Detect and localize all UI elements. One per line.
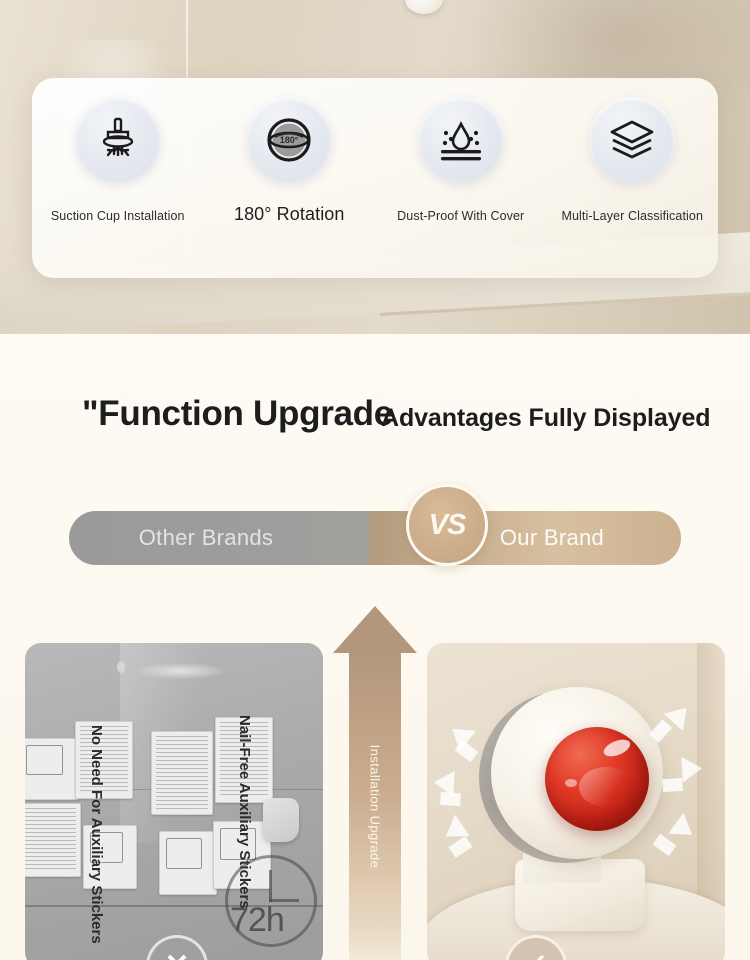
- versus-bar: Other Brands Our Brand VS: [69, 511, 681, 565]
- arrow-head: [333, 606, 417, 653]
- arrow-label-wrap: Installation Upgrade: [349, 652, 401, 960]
- headline-primary: "Function Upgrade: [82, 394, 393, 434]
- section-headline: "Function Upgrade Advantages Fully Displ…: [0, 394, 750, 454]
- cabinet-handle: [263, 798, 299, 842]
- rotation-sphere-icon: 180°: [246, 97, 332, 183]
- force-arrow: [681, 755, 703, 782]
- our-brand-label: Our Brand: [500, 525, 604, 551]
- feature-label: Dust-Proof With Cover: [397, 209, 524, 223]
- product-detail-page: Suction Cup Installation 180° 180° Rotat…: [0, 0, 750, 960]
- duration-label: 72h: [230, 901, 284, 940]
- svg-text:180°: 180°: [280, 135, 299, 145]
- sticker: [151, 731, 213, 815]
- other-brands-photo: No Need For Auxiliary Stickers Nail-Free…: [25, 643, 323, 960]
- suction-cup-icon: [75, 97, 161, 183]
- installation-upgrade-arrow: Installation Upgrade: [333, 606, 417, 960]
- force-arrow-stem: [662, 778, 683, 792]
- comparison-section: "Function Upgrade Advantages Fully Displ…: [0, 334, 750, 960]
- cross-icon: ✕: [164, 951, 189, 960]
- feature-item-dust-proof[interactable]: Dust-Proof With Cover: [375, 78, 547, 223]
- overlay-text-no-need: No Need For Auxiliary Stickers: [88, 725, 105, 944]
- vs-label: VS: [429, 509, 466, 542]
- light-reflection-small: [117, 661, 125, 673]
- red-lever-ball: [545, 727, 649, 831]
- headline-secondary: Advantages Fully Displayed: [381, 404, 710, 433]
- sticker: [25, 738, 79, 800]
- hero-photo-section: Suction Cup Installation 180° 180° Rotat…: [0, 0, 750, 334]
- sticker: [159, 831, 217, 895]
- feature-label: Multi-Layer Classification: [561, 209, 703, 223]
- dust-proof-icon: [418, 97, 504, 183]
- ceiling-light-reflection: [135, 663, 225, 679]
- check-icon: ✓: [523, 951, 548, 960]
- other-brands-pill[interactable]: Other Brands: [69, 511, 389, 565]
- our-brand-photo: [427, 643, 725, 960]
- other-brands-label: Other Brands: [139, 525, 273, 551]
- feature-item-rotation[interactable]: 180° 180° Rotation: [204, 78, 376, 225]
- arrow-label: Installation Upgrade: [368, 744, 383, 868]
- feature-label: Suction Cup Installation: [51, 209, 185, 223]
- feature-item-suction-cup[interactable]: Suction Cup Installation: [32, 78, 204, 223]
- force-arrow-stem: [440, 792, 461, 806]
- layers-icon: [589, 97, 675, 183]
- feature-label: 180° Rotation: [234, 204, 345, 225]
- sticker: [25, 803, 81, 877]
- feature-card: Suction Cup Installation 180° 180° Rotat…: [32, 78, 718, 278]
- feature-item-multi-layer[interactable]: Multi-Layer Classification: [547, 78, 719, 223]
- vs-badge: VS: [406, 484, 488, 566]
